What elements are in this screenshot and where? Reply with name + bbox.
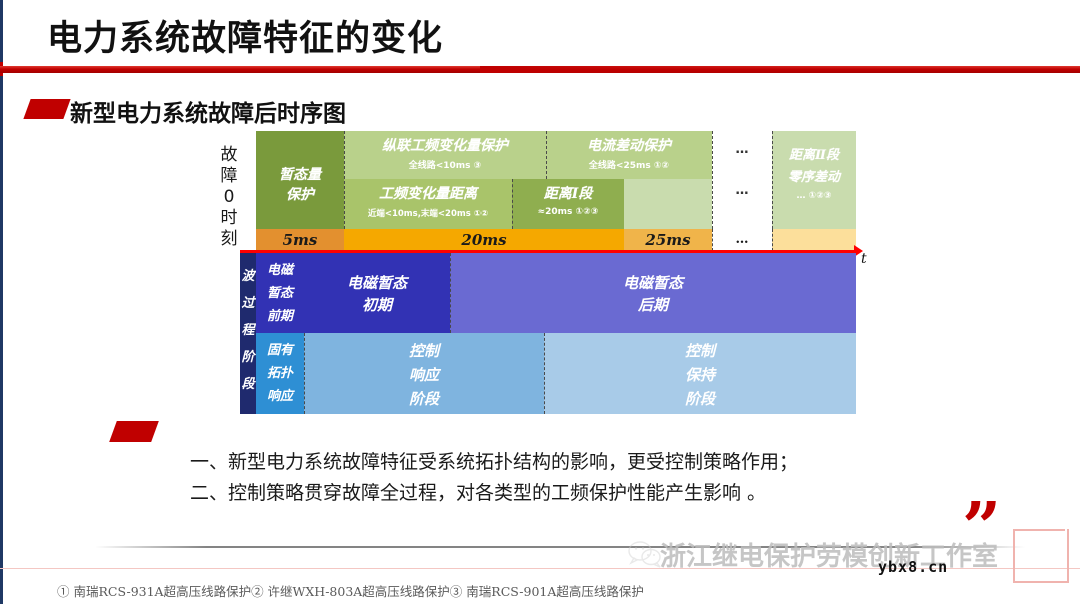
- phase-transient-early: 电磁 暂态 前期: [256, 253, 304, 333]
- time-label-ellipsis: …: [712, 229, 772, 251]
- axis-symbol-t: t: [861, 251, 867, 267]
- phase-line: 响应: [256, 385, 304, 408]
- divider-dashed: [772, 131, 773, 229]
- conclusion-bullet-marker: [109, 421, 159, 442]
- cell-sub: 全线路<10ms ③: [344, 158, 546, 171]
- phase-line: 前期: [256, 305, 304, 328]
- conclusion-list: 一、新型电力系统故障特征受系统拓扑结构的影响，更受控制策略作用； 二、控制策略贯…: [190, 447, 950, 509]
- cell-line1: 纵联工频变化量保护: [344, 135, 546, 155]
- cell-line2: 保护: [256, 184, 344, 204]
- quote-mark-icon: ”: [962, 503, 1001, 553]
- protection-cell-powerfreq-distance: 工频变化量距离 近端<10ms,末端<20ms ①②: [344, 179, 512, 229]
- phase-line: 电磁暂态: [304, 272, 450, 293]
- divider-dashed: [304, 333, 305, 414]
- section-bullet-marker: [23, 99, 70, 119]
- cell-line1: 距离Ⅰ段: [512, 183, 624, 203]
- label-char: 障: [216, 166, 242, 187]
- cell-sub: ≈20ms ①②③: [512, 207, 624, 217]
- ellipsis-mark-2: …: [712, 183, 772, 198]
- label-char: 时: [216, 208, 242, 229]
- footnote-references: ① 南瑞RCS-931A超高压线路保护② 许继WXH-803A超高压线路保护③ …: [57, 581, 1057, 600]
- page-title: 电力系统故障特征的变化: [47, 10, 443, 61]
- time-cell-gap: …: [712, 229, 772, 251]
- protection-cell-distance-zone2: 距离Ⅱ段 零序差动 … ①②③: [772, 131, 856, 229]
- cell-sub: 近端<10ms,末端<20ms ①②: [344, 207, 512, 219]
- phase-line: 阶段: [544, 387, 856, 411]
- cell-line1: 电流差动保护: [546, 135, 712, 155]
- phase-label-stack: 控制 响应 阶段: [304, 339, 544, 411]
- section-title: 新型电力系统故障后时序图: [70, 94, 346, 128]
- divider-dashed: [544, 333, 545, 414]
- cell-line2: 零序差动: [772, 166, 856, 185]
- watermark-url: ybx8.cn: [878, 558, 948, 576]
- time-label: 20ms: [344, 229, 624, 251]
- left-edge-accent: [0, 0, 3, 604]
- phase-label-stack: 电磁 暂态 前期: [256, 259, 304, 328]
- cell-line1: 距离Ⅱ段: [772, 144, 856, 163]
- protection-cell-pilot-powerfreq: 纵联工频变化量保护 全线路<10ms ③: [344, 131, 546, 179]
- phase-line: 暂态: [256, 282, 304, 305]
- phase-line: 阶段: [304, 387, 544, 411]
- time-label: 5ms: [256, 229, 344, 251]
- label-char: 刻: [216, 229, 242, 250]
- protection-cell-continuation: [624, 179, 712, 229]
- phase-label-stack: 固有 拓扑 响应: [256, 339, 304, 408]
- phase-line: 拓扑: [256, 362, 304, 385]
- phase-label-stack: 控制 保持 阶段: [544, 339, 856, 411]
- time-cell-5ms: 5ms: [256, 229, 344, 251]
- divider-dashed: [512, 179, 513, 229]
- stage-char: 过: [240, 290, 256, 317]
- divider-dashed: [772, 229, 773, 251]
- phase-line: 保持: [544, 363, 856, 387]
- watermark-frame: [1013, 529, 1069, 583]
- phase-control-hold: 控制 保持 阶段: [544, 333, 856, 414]
- divider-dashed: [712, 131, 713, 229]
- protection-cell-distance-zone1: 距离Ⅰ段 ≈20ms ①②③: [512, 179, 624, 229]
- time-axis-band: 5ms 20ms 25ms …: [256, 229, 856, 251]
- conclusion-item-2: 二、控制策略贯穿故障全过程，对各类型的工频保护性能产生影响 。: [190, 478, 950, 509]
- conclusion-item-1: 一、新型电力系统故障特征受系统拓扑结构的影响，更受控制策略作用；: [190, 447, 950, 478]
- control-response-band: 固有 拓扑 响应 控制 响应 阶段 控制 保持 阶段: [240, 333, 856, 414]
- phase-line: 初期: [304, 294, 450, 315]
- divider-dashed: [546, 131, 547, 179]
- time-cell-tail: [772, 229, 856, 251]
- electromagnetic-transient-band: 波 过 程 阶 段 电磁 暂态 前期 电磁暂态 初期: [240, 253, 856, 333]
- protection-cell-transient: 暂态量 保护: [256, 131, 344, 229]
- protection-band: 暂态量 保护 纵联工频变化量保护 全线路<10ms ③ 电流差动保护 全线路<2…: [256, 131, 856, 229]
- phase-line: 固有: [256, 339, 304, 362]
- time-cell-25ms: 25ms: [624, 229, 712, 251]
- phase-line: 电磁暂态: [450, 272, 856, 293]
- title-underline-fade: [480, 66, 1080, 73]
- phase-transient-late: 电磁暂态 后期: [450, 253, 856, 333]
- timeline-diagram: 故 障 0 时 刻 暂态量 保护 纵联工频变化量保护 全线路<10ms ③ 电流…: [216, 131, 856, 416]
- cell-sub: 全线路<25ms ①②: [546, 158, 712, 171]
- wechat-icon: [628, 540, 662, 568]
- stage-char: 波: [240, 263, 256, 290]
- phase-line: 控制: [304, 339, 544, 363]
- slide-root: 电力系统故障特征的变化 新型电力系统故障后时序图 故 障 0 时 刻 暂态量 保…: [0, 0, 1080, 604]
- phase-line: 后期: [450, 294, 856, 315]
- label-char: 0: [216, 187, 242, 208]
- phase-control-response: 控制 响应 阶段: [304, 333, 544, 414]
- time-cell-20ms: 20ms: [344, 229, 624, 251]
- divider-dashed: [712, 229, 713, 251]
- phase-line: 响应: [304, 363, 544, 387]
- time-label: 25ms: [624, 229, 712, 251]
- protection-cell-current-diff: 电流差动保护 全线路<25ms ①②: [546, 131, 712, 179]
- phase-inherent-topology-response: 固有 拓扑 响应: [256, 333, 304, 414]
- phase-transient-middle: 电磁暂态 初期: [304, 253, 450, 333]
- cell-sub: … ①②③: [772, 191, 856, 201]
- phase-line: 控制: [544, 339, 856, 363]
- label-char: 故: [216, 145, 242, 166]
- fault-zero-moment-label: 故 障 0 时 刻: [216, 145, 242, 250]
- cell-line1: 工频变化量距离: [344, 183, 512, 203]
- phase-line: 电磁: [256, 259, 304, 282]
- divider-dashed: [344, 131, 345, 229]
- ellipsis-mark-1: …: [712, 142, 772, 157]
- cell-line1: 暂态量: [256, 164, 344, 184]
- divider-dashed: [450, 253, 451, 333]
